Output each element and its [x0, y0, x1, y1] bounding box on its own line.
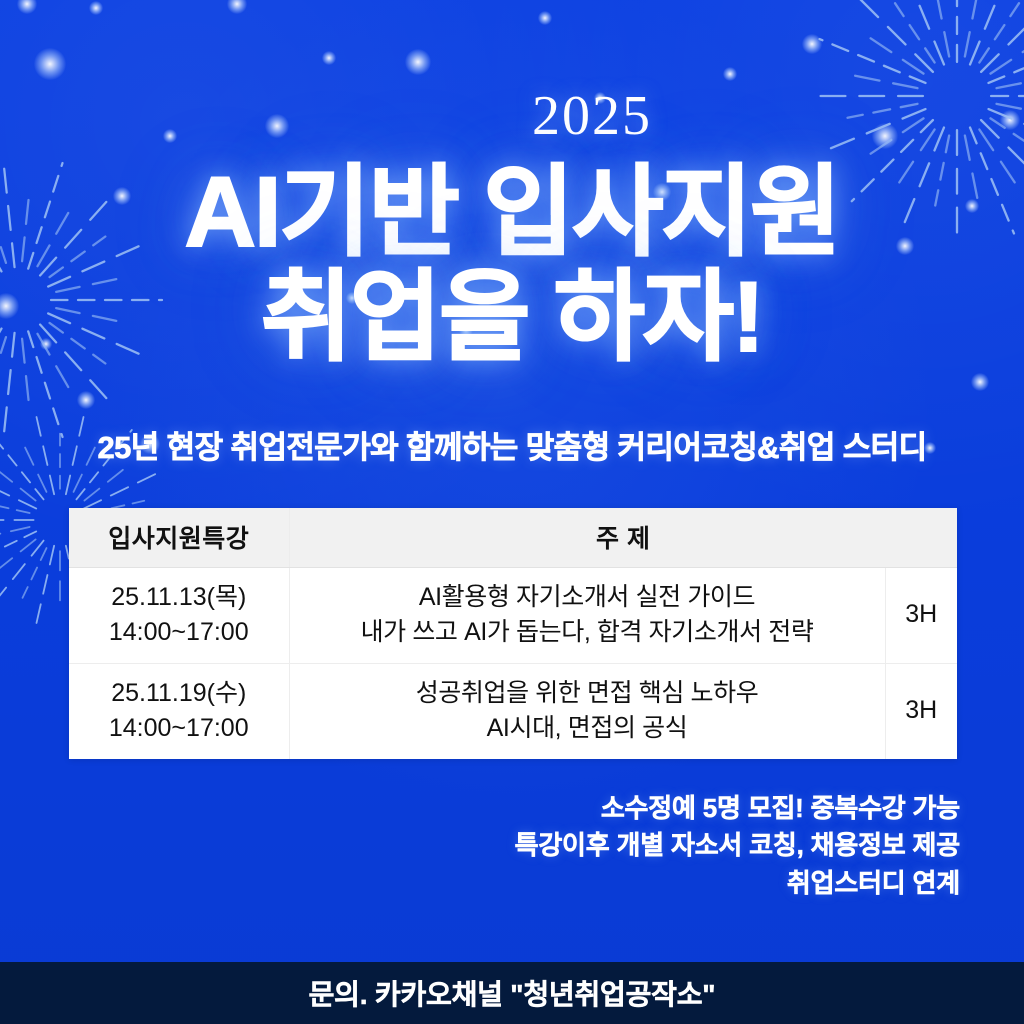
- schedule-table-head: 입사지원특강 주 제: [69, 508, 957, 568]
- cell-hours: 3H: [885, 568, 957, 664]
- sparkle-dot-icon: [89, 1, 104, 16]
- note-line: 취업스터디 연계: [515, 865, 960, 902]
- page-title: AI기반 입사지원 취업을 하자!: [0, 162, 1024, 368]
- footer-contact-text: 문의. 카카오채널 "청년취업공작소": [309, 973, 716, 1013]
- sparkle-dot-icon: [322, 51, 337, 66]
- table-row: 25.11.19(수) 14:00~17:00성공취업을 위한 면접 핵심 노하…: [69, 664, 957, 760]
- column-header-subject: 주 제: [289, 508, 957, 568]
- note-line: 소수정예 5명 모집! 중복수강 가능: [515, 790, 960, 827]
- subtitle: 25년 현장 취업전문가와 함께하는 맞춤형 커리어코칭&취업 스터디: [0, 422, 1024, 467]
- sparkle-dot-icon: [405, 49, 431, 75]
- sparkle-dot-icon: [723, 67, 738, 82]
- sparkle-dot-icon: [802, 34, 822, 54]
- cell-hours: 3H: [885, 664, 957, 760]
- table-header-row: 입사지원특강 주 제: [69, 508, 957, 568]
- notes-block: 소수정예 5명 모집! 중복수강 가능특강이후 개별 자소서 코칭, 채용정보 …: [515, 790, 960, 902]
- sparkle-dot-icon: [538, 11, 553, 26]
- poster-canvas: 2025 AI기반 입사지원 취업을 하자! 25년 현장 취업전문가와 함께하…: [0, 0, 1024, 1024]
- headline-line-1: AI기반 입사지원: [0, 162, 1024, 263]
- table-row: 25.11.13(목) 14:00~17:00AI활용형 자기소개서 실전 가이…: [69, 568, 957, 664]
- note-line: 특강이후 개별 자소서 코칭, 채용정보 제공: [515, 827, 960, 864]
- column-header-date: 입사지원특강: [69, 508, 289, 568]
- cell-date: 25.11.19(수) 14:00~17:00: [69, 664, 289, 760]
- sparkle-dot-icon: [77, 391, 94, 408]
- cell-subject: AI활용형 자기소개서 실전 가이드 내가 쓰고 AI가 돕는다, 합격 자기소…: [289, 568, 885, 664]
- schedule-table-body: 25.11.13(목) 14:00~17:00AI활용형 자기소개서 실전 가이…: [69, 568, 957, 760]
- footer-bar: 문의. 카카오채널 "청년취업공작소": [0, 962, 1024, 1024]
- sparkle-dot-icon: [17, 0, 37, 14]
- year-label: 2025: [0, 84, 1024, 148]
- sparkle-dot-icon: [227, 0, 247, 14]
- sparkle-dot-icon: [34, 48, 66, 80]
- schedule-table: 입사지원특강 주 제 25.11.13(목) 14:00~17:00AI활용형 …: [69, 508, 957, 759]
- sparkle-dot-icon: [971, 373, 988, 390]
- headline-line-2: 취업을 하자!: [0, 267, 1024, 368]
- cell-subject: 성공취업을 위한 면접 핵심 노하우 AI시대, 면접의 공식: [289, 664, 885, 760]
- schedule-table-container: 입사지원특강 주 제 25.11.13(목) 14:00~17:00AI활용형 …: [69, 508, 957, 759]
- cell-date: 25.11.13(목) 14:00~17:00: [69, 568, 289, 664]
